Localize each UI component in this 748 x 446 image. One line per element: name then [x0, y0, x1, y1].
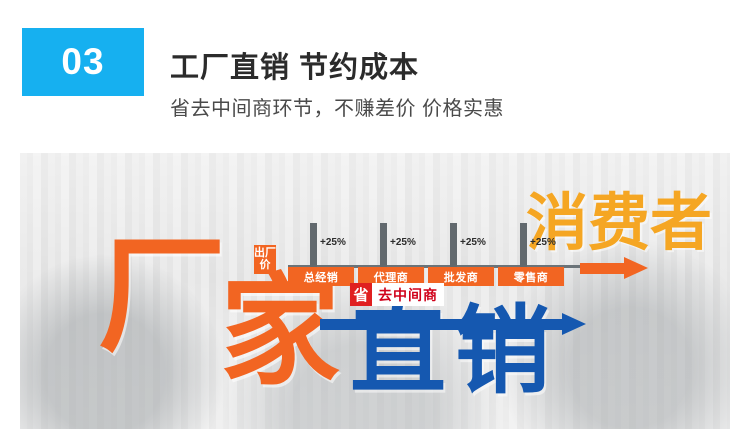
- header-section: 03 工厂直销 节约成本 省去中间商环节，不赚差价 价格实惠: [0, 0, 748, 150]
- save-badge-text: 去中间商: [372, 283, 444, 306]
- markup-label: +25%: [530, 237, 556, 248]
- arrow-head: [562, 313, 586, 335]
- arrow-head: [624, 257, 648, 279]
- blue-arrow-icon: [320, 313, 588, 335]
- chain-tick-icon: [310, 223, 317, 267]
- page-subtitle: 省去中间商环节，不赚差价 价格实惠: [170, 92, 504, 121]
- save-badge-icon: 省: [350, 283, 372, 306]
- markup-label: +25%: [320, 237, 346, 248]
- middleman-box: 零售商: [498, 267, 564, 286]
- markup-label: +25%: [460, 237, 486, 248]
- orange-arrow-icon: [580, 257, 650, 279]
- arrow-shaft: [320, 319, 564, 330]
- banner-illustration: 厂 家 直销 消费者 出厂价 +25% +25% +25% +25% 总经销 代…: [20, 153, 730, 429]
- save-middleman-badge: 省 去中间商: [350, 283, 444, 306]
- chain-tick-icon: [380, 223, 387, 267]
- chain-tick-icon: [450, 223, 457, 267]
- step-number-badge: 03: [22, 28, 144, 96]
- page-title: 工厂直销 节约成本: [170, 44, 419, 86]
- middleman-box: 总经销: [288, 267, 354, 286]
- step-number: 03: [61, 41, 104, 83]
- factory-character: 厂: [98, 233, 226, 361]
- markup-label: +25%: [390, 237, 416, 248]
- chain-tick-icon: [520, 223, 527, 267]
- arrow-shaft: [580, 263, 626, 274]
- exit-price-label: 出厂价: [254, 245, 276, 274]
